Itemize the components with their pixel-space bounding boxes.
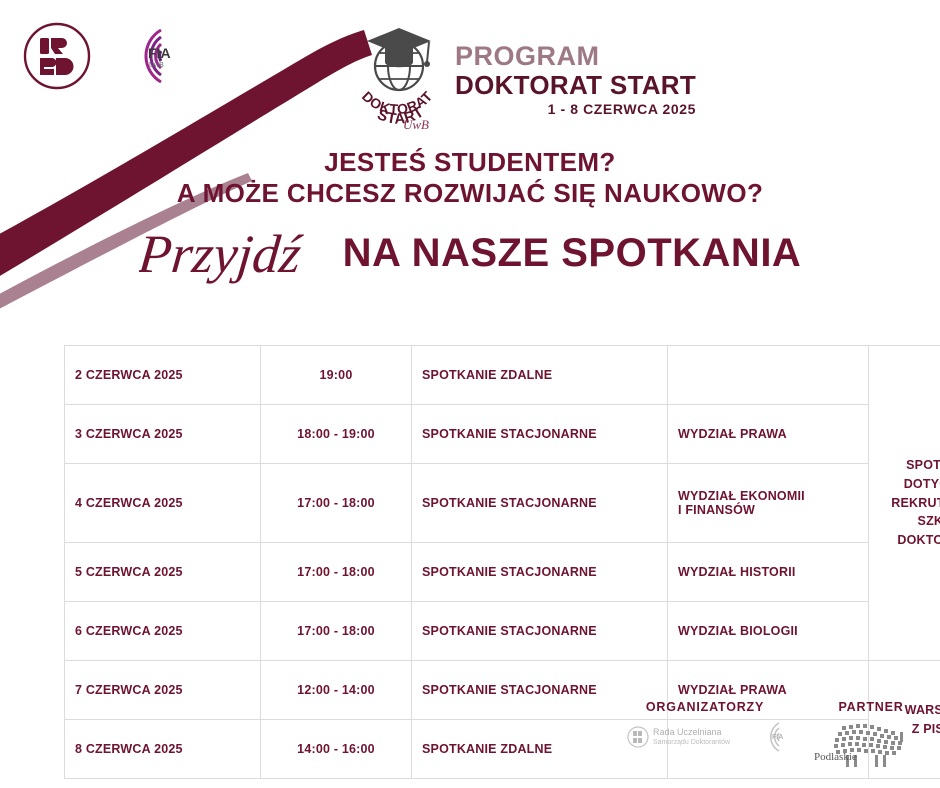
cta-block: Przyjdź NA NASZE SPOTKANIA	[0, 214, 940, 292]
cell-date: 2 CZERWCA 2025	[65, 346, 261, 405]
cta-script-text: Przyjdź	[139, 224, 306, 284]
fia-logo-label: FIA	[148, 45, 171, 61]
cell-place: WYDZIAŁ BIOLOGII	[668, 602, 869, 661]
podlaskie-label: Podlaskie	[814, 751, 857, 763]
cell-date: 4 CZERWCA 2025	[65, 464, 261, 543]
note-line: REKRUTACJI DO	[879, 494, 940, 513]
cell-date: 6 CZERWCA 2025	[65, 602, 261, 661]
footer: ORGANIZATORZY Rada Uczelniana Samorządu …	[0, 700, 940, 788]
program-word: PROGRAM	[455, 42, 696, 70]
doktorat-start-emblem: DOKTORAT START UwB	[355, 22, 447, 134]
table-row: 2 CZERWCA 2025 19:00 SPOTKANIE ZDALNE SP…	[65, 346, 940, 405]
cell-type: SPOTKANIE STACJONARNE	[412, 405, 668, 464]
cell-place: WYDZIAŁ PRAWA	[668, 405, 869, 464]
cell-type: SPOTKANIE STACJONARNE	[412, 543, 668, 602]
cta-script-word: Przyjdź	[139, 214, 339, 292]
headline-block: JESTEŚ STUDENTEM? A MOŻE CHCESZ ROZWIJAĆ…	[0, 148, 940, 208]
emblem-script: UwB	[403, 117, 429, 132]
table-row: 5 CZERWCA 2025 17:00 - 18:00 SPOTKANIE S…	[65, 543, 940, 602]
program-header: DOKTORAT START UwB PROGRAM DOKTORAT STAR…	[355, 22, 696, 134]
table-row: 4 CZERWCA 2025 17:00 - 18:00 SPOTKANIE S…	[65, 464, 940, 543]
organizers-block: ORGANIZATORZY Rada Uczelniana Samorządu …	[620, 700, 790, 754]
note-line: DOKTORSKIEJ	[879, 531, 940, 550]
note-line: DOTYCZĄCE	[879, 475, 940, 494]
program-dates: 1 - 8 CZERWCA 2025	[455, 101, 696, 117]
partner-block: PARTNER	[806, 700, 936, 772]
rusd-logo	[22, 21, 92, 91]
cell-time: 19:00	[261, 346, 412, 405]
organizer-logo-row: Rada Uczelniana Samorządu Doktorantów FI…	[620, 720, 790, 754]
cta-bold-text: NA NASZE SPOTKANIA	[343, 233, 802, 273]
cell-group-note-1: SPOTKANIE DOTYCZĄCE REKRUTACJI DO SZKOŁY…	[869, 346, 940, 661]
rada-logo-line1: Rada Uczelniana	[653, 727, 722, 737]
cell-place: WYDZIAŁ EKONOMII I FINANSÓW	[668, 464, 869, 543]
fia-logo: FIA UwB	[103, 22, 171, 90]
place-line: WYDZIAŁ EKONOMII	[678, 489, 858, 503]
fia-logo-sublabel: UwB	[149, 62, 164, 69]
cell-place	[668, 346, 869, 405]
fia-footer-logo: FIA	[751, 720, 785, 754]
cell-place: WYDZIAŁ HISTORII	[668, 543, 869, 602]
cell-type: SPOTKANIE ZDALNE	[412, 346, 668, 405]
note-line: SPOTKANIE	[879, 456, 940, 475]
partner-title: PARTNER	[806, 700, 936, 714]
table-row: 6 CZERWCA 2025 17:00 - 18:00 SPOTKANIE S…	[65, 602, 940, 661]
podlaskie-logo: Podlaskie	[812, 720, 930, 772]
rada-uczelniana-logo: Rada Uczelniana Samorządu Doktorantów	[625, 722, 745, 752]
organizers-title: ORGANIZATORZY	[620, 700, 790, 714]
cell-date: 5 CZERWCA 2025	[65, 543, 261, 602]
rada-logo-line2: Samorządu Doktorantów	[653, 739, 731, 746]
cell-time: 17:00 - 18:00	[261, 543, 412, 602]
headline-line-1: JESTEŚ STUDENTEM?	[0, 148, 940, 177]
table-row: 3 CZERWCA 2025 18:00 - 19:00 SPOTKANIE S…	[65, 405, 940, 464]
cell-time: 17:00 - 18:00	[261, 602, 412, 661]
cell-type: SPOTKANIE STACJONARNE	[412, 602, 668, 661]
cell-date: 3 CZERWCA 2025	[65, 405, 261, 464]
note-line: SZKOŁY	[879, 512, 940, 531]
headline-line-2: A MOŻE CHCESZ ROZWIJAĆ SIĘ NAUKOWO?	[0, 179, 940, 208]
program-title: DOKTORAT START	[455, 71, 696, 99]
cell-type: SPOTKANIE STACJONARNE	[412, 464, 668, 543]
cell-time: 18:00 - 19:00	[261, 405, 412, 464]
graduation-cap-icon	[367, 28, 431, 67]
fia-footer-label: FIA	[772, 734, 783, 741]
cell-time: 17:00 - 18:00	[261, 464, 412, 543]
place-line: I FINANSÓW	[678, 503, 858, 517]
